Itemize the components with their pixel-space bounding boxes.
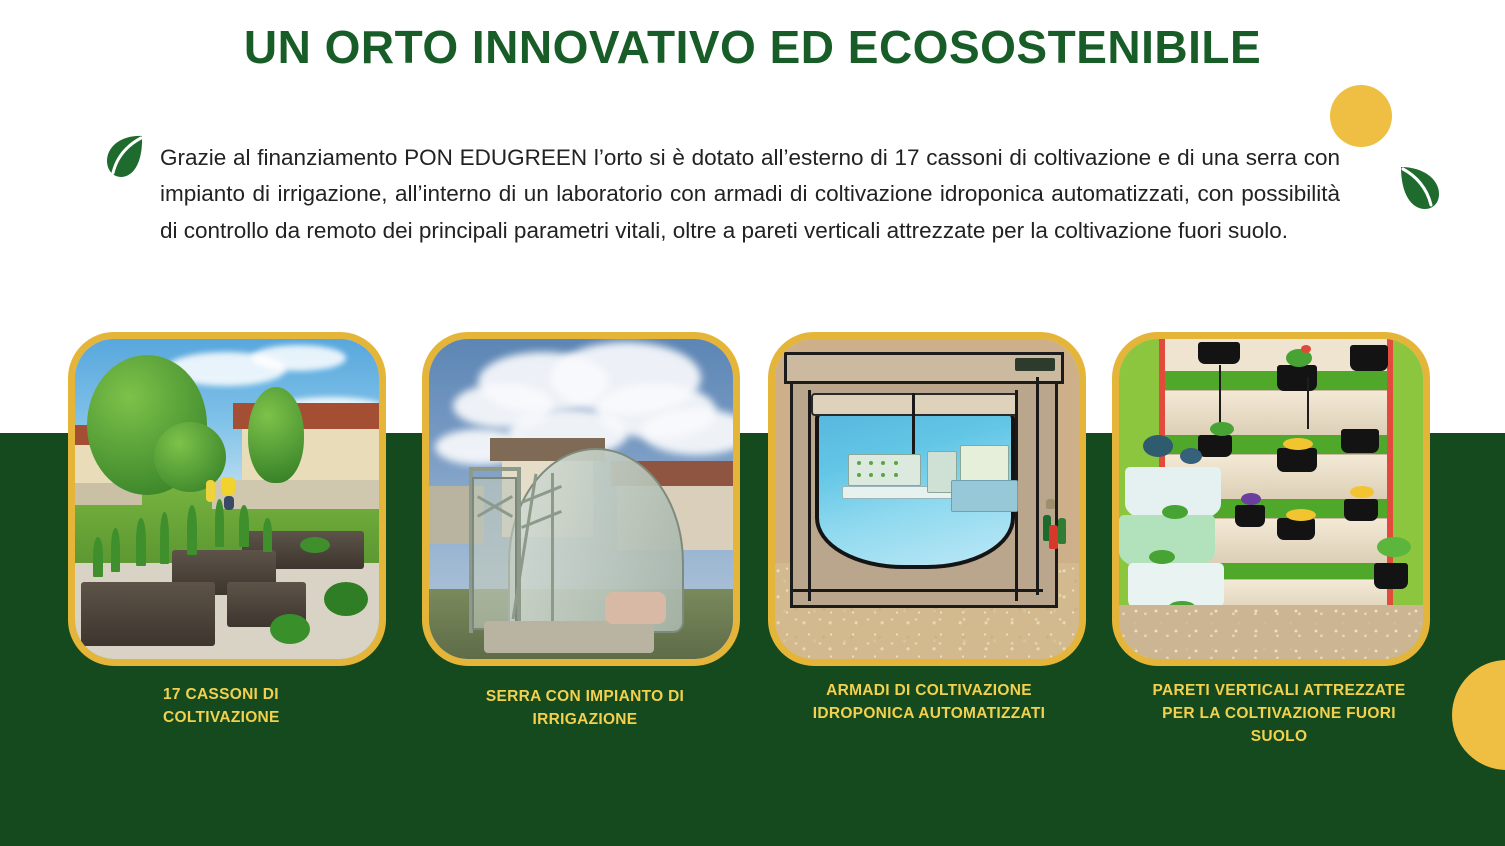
- slide-canvas: UN ORTO INNOVATIVO ED ECOSOSTENIBILE Gra…: [0, 0, 1505, 846]
- leaf-icon: [1398, 163, 1442, 211]
- greenhouse-photo: [429, 339, 733, 659]
- card-armadi[interactable]: [768, 332, 1086, 666]
- leaf-icon: [104, 133, 146, 179]
- card-caption: 17 CASSONI DI COLTIVAZIONE: [163, 684, 373, 730]
- vertical-garden-wall-photo: [1119, 339, 1423, 659]
- orto-raised-beds-photo: [75, 339, 379, 659]
- card-caption: PARETI VERTICALI ATTREZZATE PER LA COLTI…: [1148, 680, 1410, 749]
- card-cassoni[interactable]: [68, 332, 386, 666]
- card-pareti[interactable]: [1112, 332, 1430, 666]
- page-title: UN ORTO INNOVATIVO ED ECOSOSTENIBILE: [0, 22, 1505, 73]
- card-caption: ARMADI DI COLTIVAZIONE IDROPONICA AUTOMA…: [805, 680, 1053, 726]
- card-serra[interactable]: [422, 332, 740, 666]
- decorative-circle-top-right: [1330, 85, 1392, 147]
- body-paragraph: Grazie al finanziamento PON EDUGREEN l’o…: [160, 140, 1340, 249]
- cards-row: [0, 332, 1505, 672]
- hydroponic-grow-tent-photo: [775, 339, 1079, 659]
- card-caption: SERRA CON IMPIANTO DI IRRIGAZIONE: [440, 686, 730, 732]
